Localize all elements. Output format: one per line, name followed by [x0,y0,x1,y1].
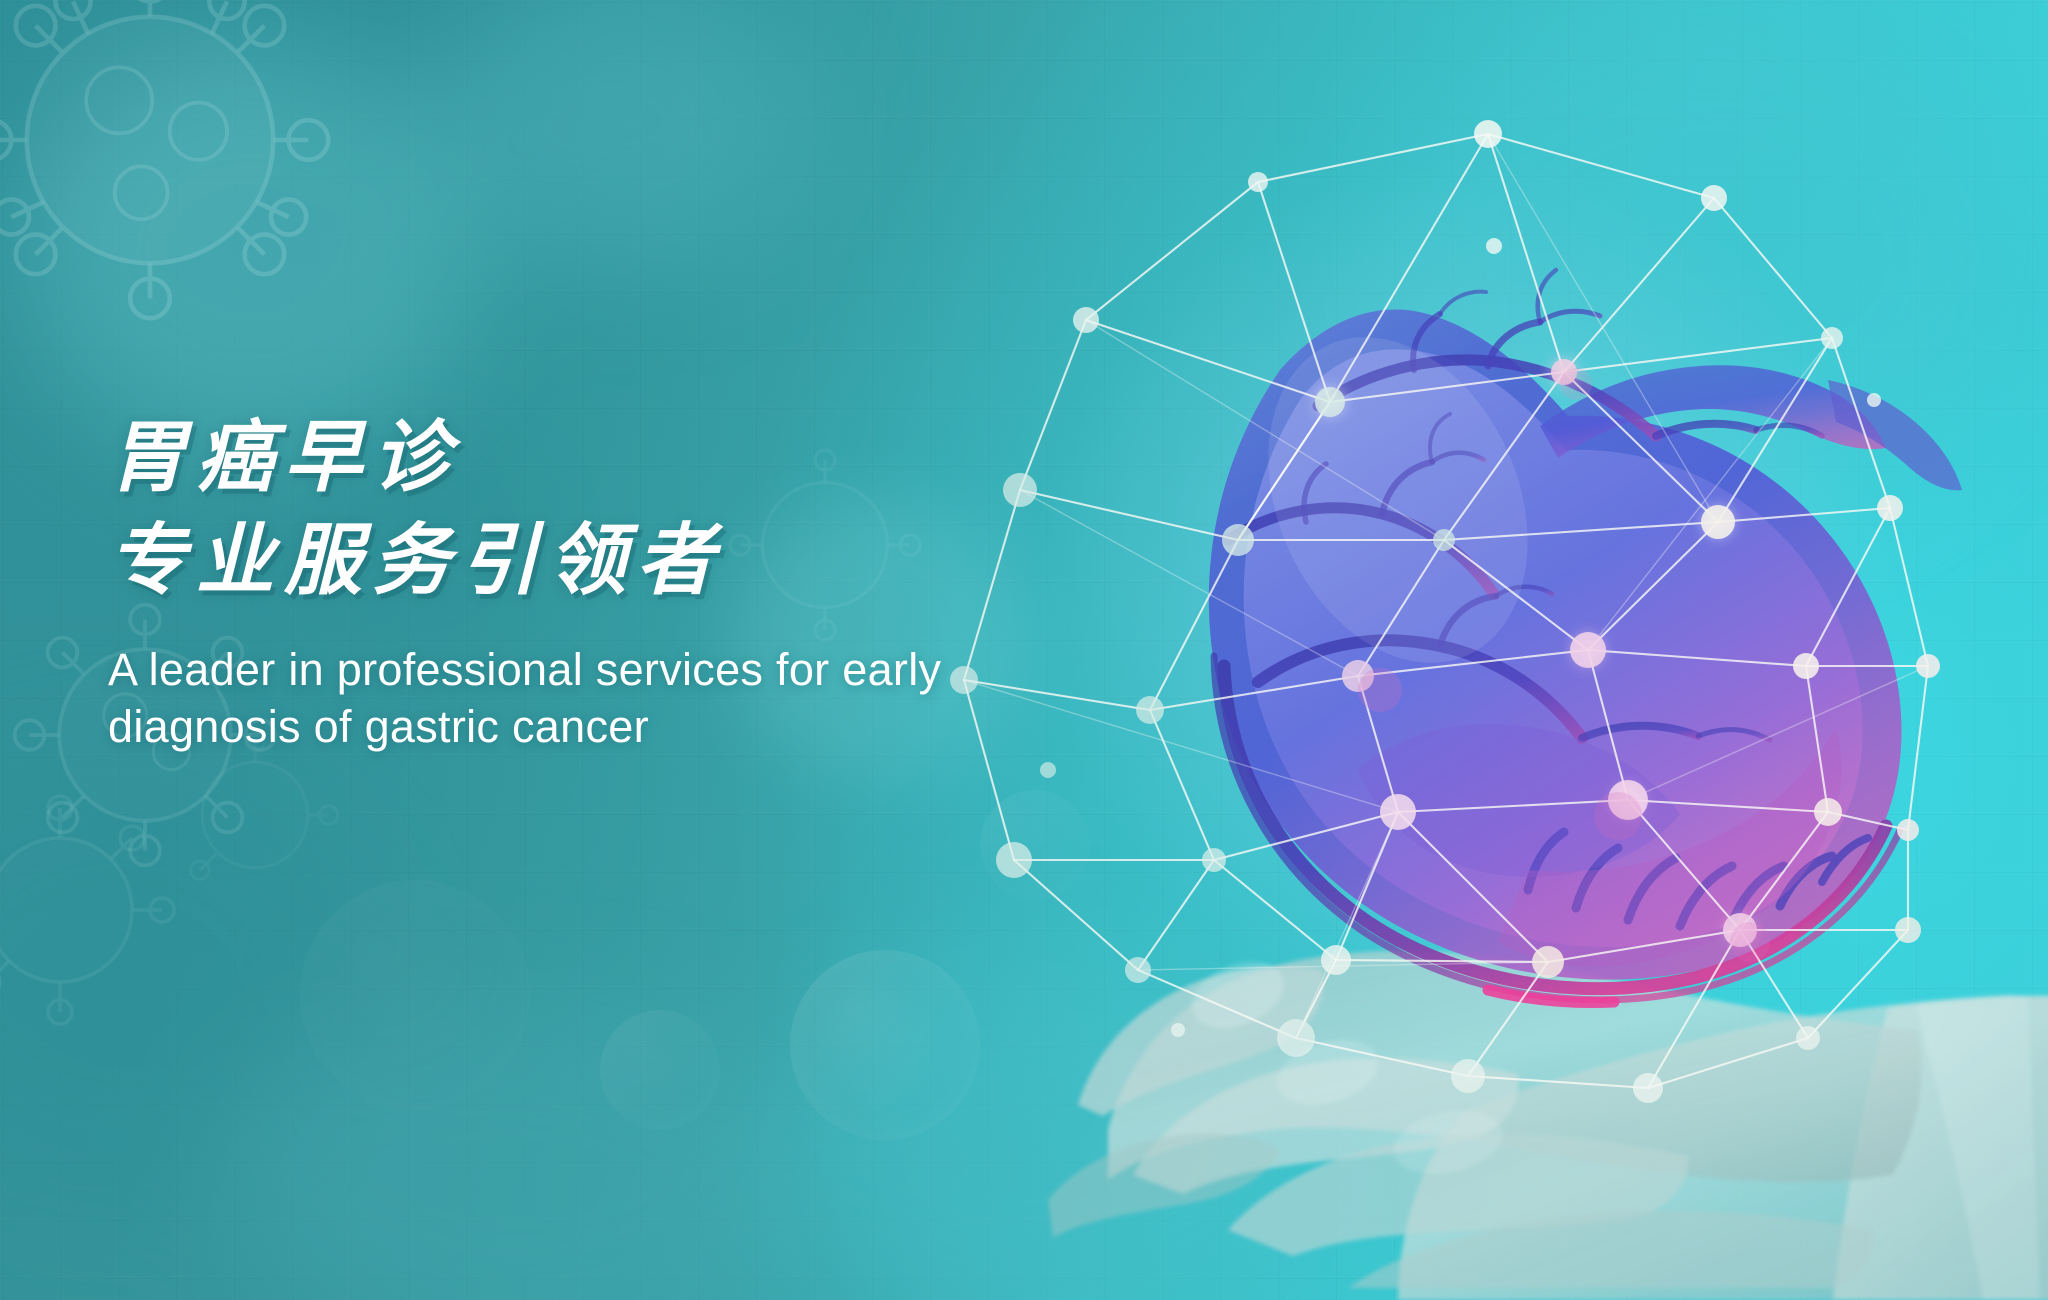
headline: 胃癌早诊 专业服务引领者 [108,412,1208,607]
subheadline-line-2: diagnosis of gastric cancer [108,698,1108,756]
bubble-decor [300,880,530,1110]
subheadline-line-1: A leader in professional services for ea… [108,641,1108,699]
subheadline: A leader in professional services for ea… [108,641,1108,756]
bubble-decor [600,1010,720,1130]
headline-line-1: 胃癌早诊 [108,412,1208,503]
hero-banner: 胃癌早诊 专业服务引领者 A leader in professional se… [0,0,2048,1300]
hero-copy: 胃癌早诊 专业服务引领者 A leader in professional se… [108,412,1208,756]
virus-particle-icon [0,760,210,1060]
virus-particle-icon [0,0,370,360]
headline-line-2: 专业服务引领者 [108,515,1208,606]
